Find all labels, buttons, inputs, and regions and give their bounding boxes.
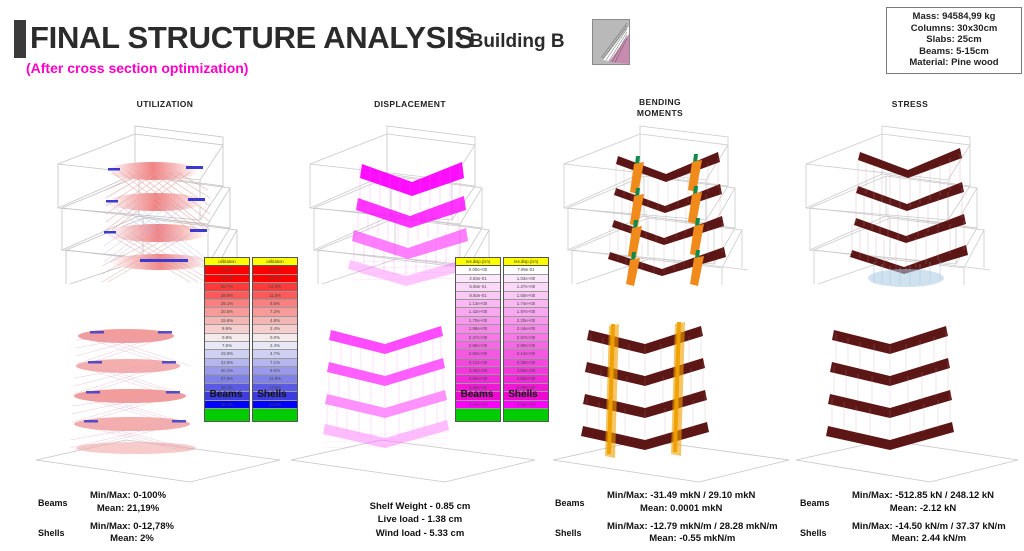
- footer-bending: Beams Min/Max: -31.49 mkN / 29.10 mkN Me…: [555, 490, 815, 551]
- legend-header: utilization: [205, 258, 249, 266]
- footer-bending-beams-tag: Beams: [555, 498, 607, 508]
- legend-swatch: 16.7%: [253, 275, 297, 283]
- legend-swatch: 1.03e+00: [504, 275, 548, 283]
- column-header-stress: STRESS: [820, 99, 1000, 110]
- info-slabs: Slabs: 25cm: [891, 34, 1017, 46]
- footer-utilization-beams-mean: Mean: 21,19%: [90, 503, 166, 516]
- footer-stress-shells-minmax: Min/Max: -14.50 kN/m / 37.37 kN/m: [852, 521, 1006, 534]
- page-subtitle: (After cross section optimization): [26, 60, 248, 76]
- title-accent-bar: [14, 20, 26, 58]
- footer-displacement-line-3: Wind load - 5.33 cm: [300, 527, 540, 540]
- footer-utilization-beams-minmax: Min/Max: 0-100%: [90, 490, 166, 503]
- legend-swatch: 1.27e+00: [504, 283, 548, 291]
- legend-swatch: 44.4%: [205, 275, 249, 283]
- legend-header: res.disp.(cm): [504, 258, 548, 266]
- footer-bending-beams-values: Min/Max: -31.49 mkN / 29.10 mkN Mean: 0.…: [607, 490, 755, 516]
- footer-utilization-shells-values: Min/Max: 0-12,78% Mean: 2%: [90, 521, 174, 547]
- footer-bending-beams-minmax: Min/Max: -31.49 mkN / 29.10 mkN: [607, 490, 755, 503]
- footer-stress-row: Beams Min/Max: -512.85 kN / 248.12 kN Me…: [800, 490, 1024, 516]
- footer-bending-shells-values: Min/Max: -12.79 mkN/m / 28.28 mkN/m Mean…: [607, 521, 778, 547]
- footer-bending-shells-tag: Shells: [555, 528, 607, 538]
- footer-bending-shells-minmax: Min/Max: -12.79 mkN/m / 28.28 mkN/m: [607, 521, 778, 534]
- footer-stress-beams-values: Min/Max: -512.85 kN / 248.12 kN Mean: -2…: [852, 490, 994, 516]
- info-beams: Beams: 5-15cm: [891, 46, 1017, 58]
- legend-header: utilization: [253, 258, 297, 266]
- viewport-stress-top[interactable]: [790, 112, 1024, 287]
- footer-utilization-shells-minmax: Min/Max: 0-12,78%: [90, 521, 174, 534]
- footer-bending-row: Shells Min/Max: -12.79 mkN/m / 28.28 mkN…: [555, 521, 815, 547]
- footer-stress-row: Shells Min/Max: -14.50 kN/m / 37.37 kN/m…: [800, 521, 1024, 547]
- footer-displacement-line-1: Shelf Weight - 0.85 cm: [300, 500, 540, 513]
- column-header-displacement: DISPLACEMENT: [320, 99, 500, 110]
- footer-stress: Beams Min/Max: -512.85 kN / 248.12 kN Me…: [800, 490, 1024, 551]
- legend-swatch: 8.50e-01: [456, 292, 500, 300]
- analysis-board: FINAL STRUCTURE ANALYSIS : Building B (A…: [0, 0, 1024, 546]
- legend-swatch: 0.00e+00: [456, 266, 500, 274]
- footer-stress-beams-tag: Beams: [800, 498, 852, 508]
- footer-stress-shells-tag: Shells: [800, 528, 852, 538]
- footer-utilization-row: Beams Min/Max: 0-100% Mean: 21,19%: [38, 490, 288, 516]
- legend-swatch: 11.9%: [253, 292, 297, 300]
- legend-header: res.disp.(cm): [456, 258, 500, 266]
- footer-utilization: Beams Min/Max: 0-100% Mean: 21,19% Shell…: [38, 490, 288, 551]
- viewport-displacement-bottom[interactable]: [285, 300, 545, 490]
- footer-stress-shells-mean: Mean: 2.44 kN/m: [852, 533, 1006, 546]
- column-header-bending-line1: BENDING: [570, 97, 750, 108]
- viewport-stress-bottom[interactable]: [790, 300, 1024, 490]
- footer-stress-beams-mean: Mean: -2.12 kN: [852, 503, 994, 516]
- legend-swatch: 14.3%: [253, 283, 297, 291]
- footer-utilization-row: Shells Min/Max: 0-12,78% Mean: 2%: [38, 521, 288, 547]
- legend-swatch: 19.1%: [253, 266, 297, 274]
- footer-displacement-line-2: Live load - 1.38 cm: [300, 513, 540, 526]
- info-columns: Columns: 30x30cm: [891, 23, 1017, 35]
- model-info-box: Mass: 94584,99 kg Columns: 30x30cm Slabs…: [886, 7, 1022, 74]
- page-title: FINAL STRUCTURE ANALYSIS: [30, 20, 475, 56]
- footer-utilization-shells-mean: Mean: 2%: [90, 533, 174, 546]
- legend-swatch: 2.83e-01: [456, 275, 500, 283]
- legend-swatch: 1.50e+00: [504, 292, 548, 300]
- footer-bending-row: Beams Min/Max: -31.49 mkN / 29.10 mkN Me…: [555, 490, 815, 516]
- footer-utilization-beams-values: Min/Max: 0-100% Mean: 21,19%: [90, 490, 166, 516]
- footer-utilization-shells-tag: Shells: [38, 528, 90, 538]
- viewport-bending-bottom[interactable]: [545, 300, 795, 490]
- viewport-utilization-bottom[interactable]: [30, 300, 290, 490]
- footer-stress-shells-values: Min/Max: -14.50 kN/m / 37.37 kN/m Mean: …: [852, 521, 1006, 547]
- footer-displacement: Shelf Weight - 0.85 cm Live load - 1.38 …: [300, 500, 540, 540]
- legend-swatch: 28.9%: [205, 292, 249, 300]
- legend-swatch: 51.2%: [205, 266, 249, 274]
- info-material: Material: Pine wood: [891, 57, 1017, 69]
- header: FINAL STRUCTURE ANALYSIS : Building B (A…: [0, 0, 1024, 90]
- footer-bending-shells-mean: Mean: -0.55 mkN/m: [607, 533, 778, 546]
- info-mass: Mass: 94584,99 kg: [891, 11, 1017, 23]
- legend-swatch: 36.7%: [205, 283, 249, 291]
- legend-swatch: 5.66e-01: [456, 283, 500, 291]
- viewport-bending-top[interactable]: [548, 112, 788, 287]
- footer-utilization-beams-tag: Beams: [38, 498, 90, 508]
- footer-stress-beams-minmax: Min/Max: -512.85 kN / 248.12 kN: [852, 490, 994, 503]
- footer-bending-beams-mean: Mean: 0.0001 mkN: [607, 503, 755, 516]
- structure-render-thumbnail-icon: [592, 19, 630, 65]
- column-header-utilization: UTILIZATION: [75, 99, 255, 110]
- building-label: : Building B: [458, 31, 565, 53]
- legend-swatch: 7.99e-01: [504, 266, 548, 274]
